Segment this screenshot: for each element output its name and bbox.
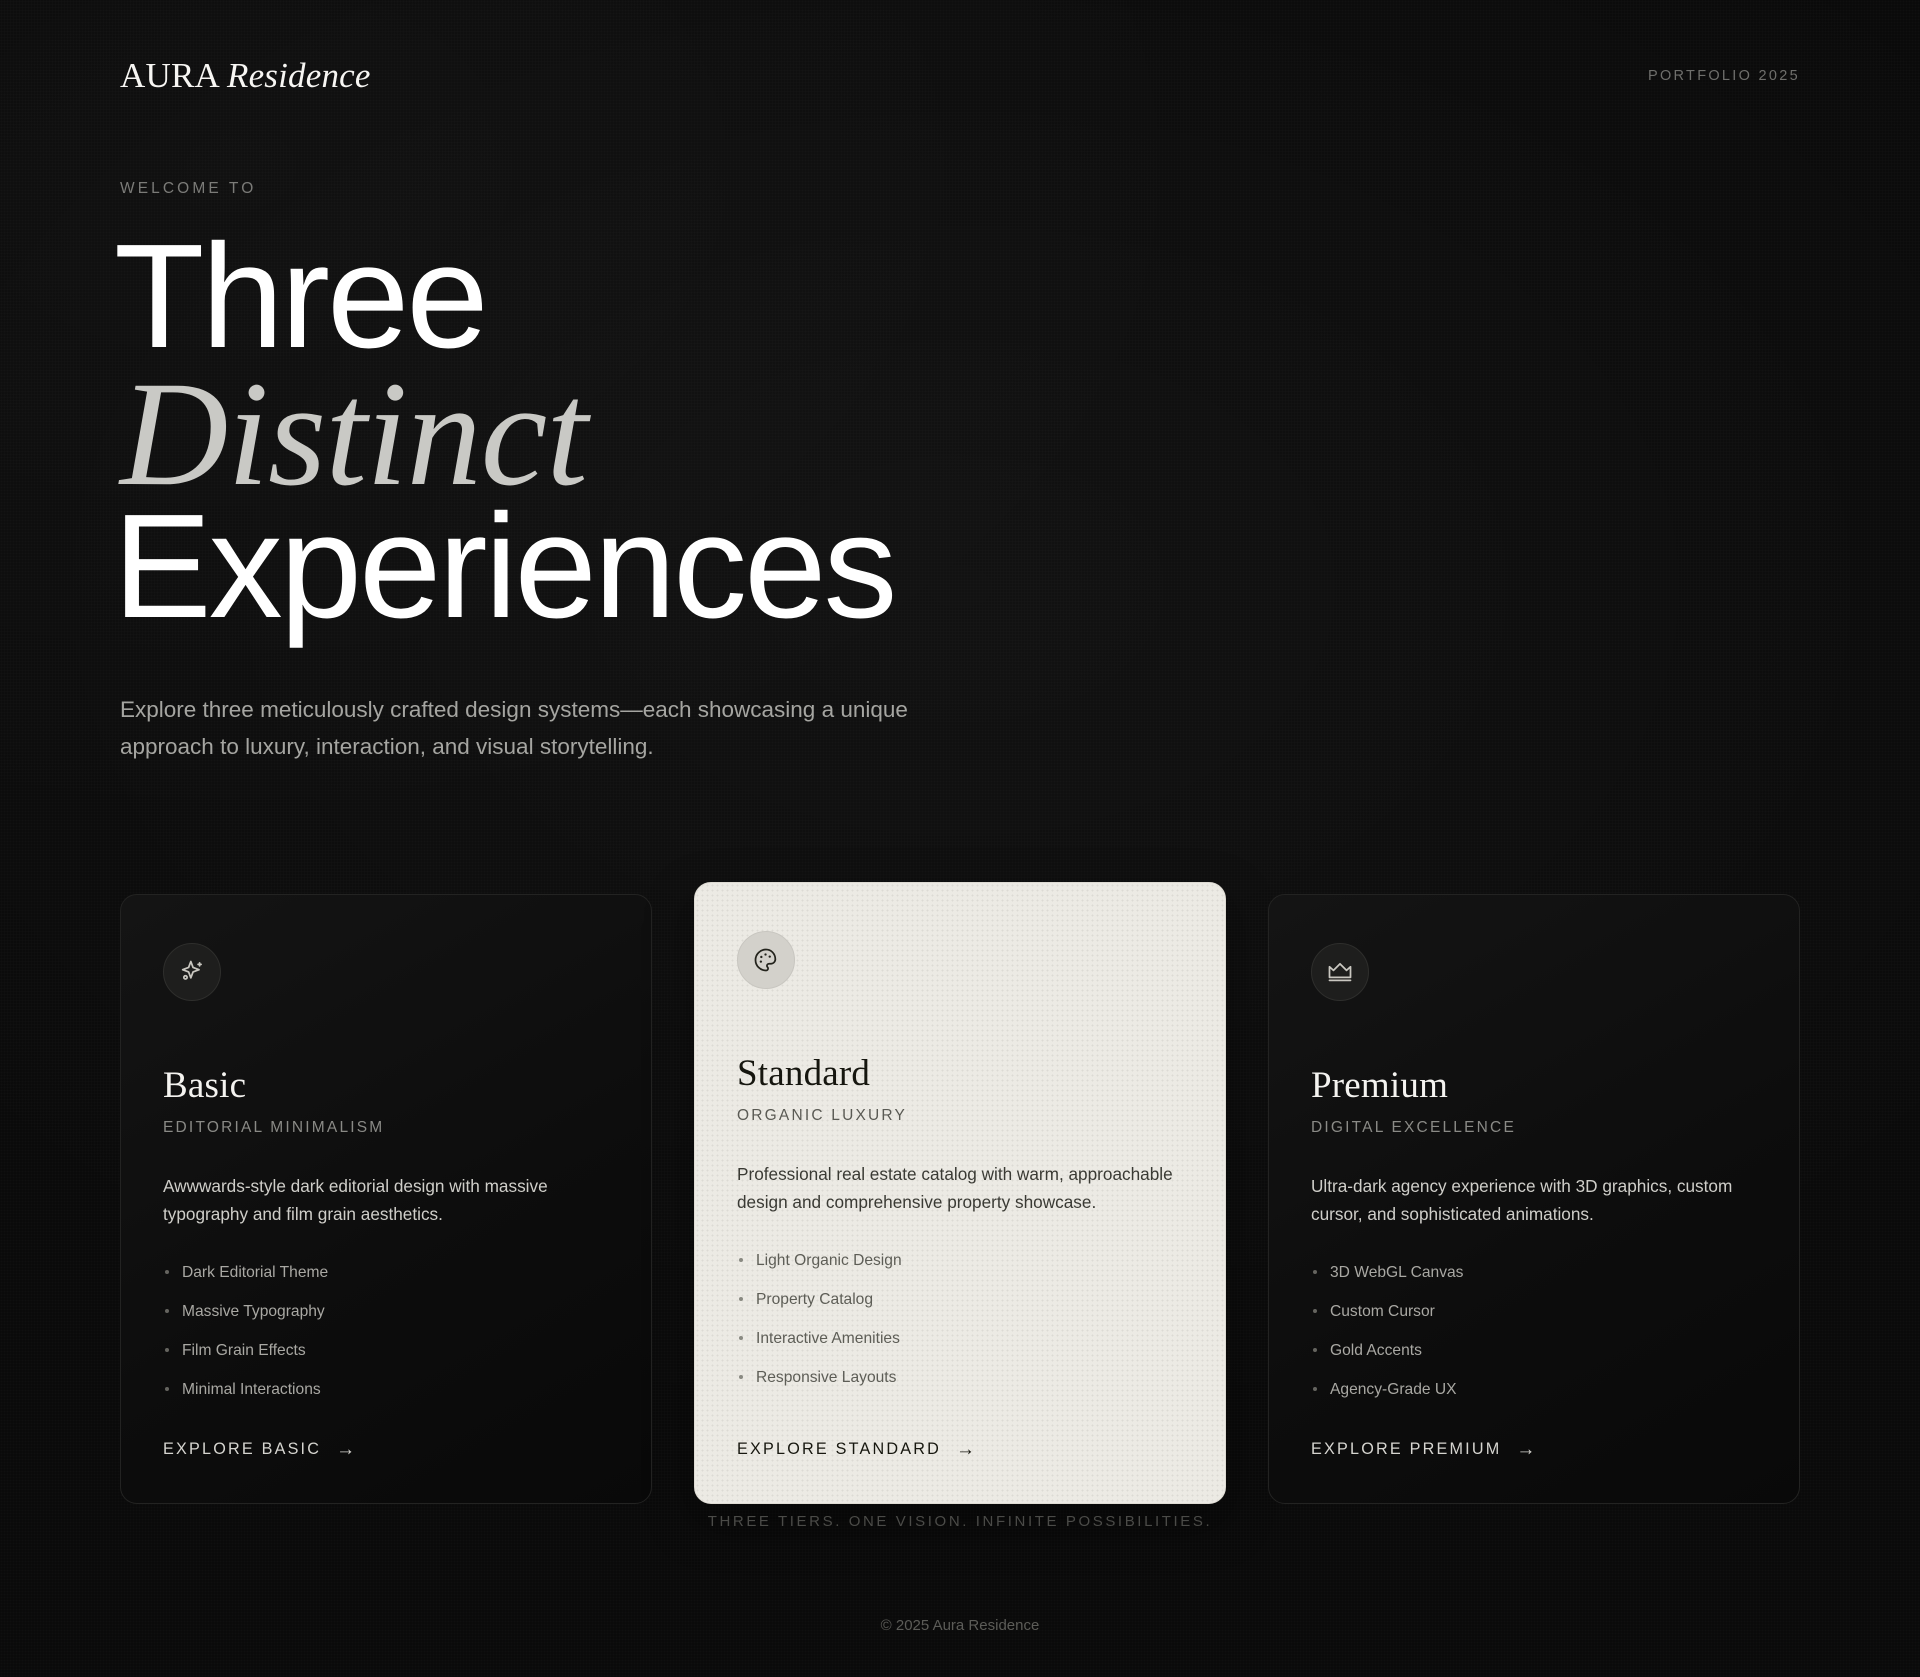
headline-line-3: Experiences	[113, 502, 940, 632]
tier-card-subtitle: ORGANIC LUXURY	[737, 1107, 1183, 1125]
tier-card-description: Ultra-dark agency experience with 3D gra…	[1311, 1173, 1757, 1229]
cta-label: EXPLORE STANDARD	[737, 1440, 941, 1459]
brand-logo-secondary: Residence	[227, 56, 371, 95]
tier-card-description: Professional real estate catalog with wa…	[737, 1161, 1183, 1217]
list-item: Property Catalog	[737, 1291, 1183, 1308]
explore-premium-button[interactable]: EXPLORE PREMIUM →	[1311, 1420, 1757, 1459]
page-title: Three Distinct Experiences	[120, 232, 940, 632]
list-item: Film Grain Effects	[163, 1342, 609, 1359]
list-item: Light Organic Design	[737, 1252, 1183, 1269]
portfolio-label: PORTFOLIO 2025	[1648, 68, 1800, 84]
tier-card-grid: Basic EDITORIAL MINIMALISM Awwwards-styl…	[120, 894, 1800, 1504]
list-item: Interactive Amenities	[737, 1330, 1183, 1347]
tier-card-standard[interactable]: Standard ORGANIC LUXURY Professional rea…	[694, 882, 1226, 1504]
list-item: Custom Cursor	[1311, 1303, 1757, 1320]
tier-card-premium[interactable]: Premium DIGITAL EXCELLENCE Ultra-dark ag…	[1268, 894, 1800, 1504]
footer-tagline: THREE TIERS. ONE VISION. INFINITE POSSIB…	[0, 1513, 1920, 1530]
list-item: Minimal Interactions	[163, 1381, 609, 1398]
tier-card-subtitle: DIGITAL EXCELLENCE	[1311, 1119, 1757, 1137]
arrow-right-icon: →	[1516, 1440, 1537, 1459]
arrow-right-icon: →	[956, 1440, 977, 1459]
list-item: Agency-Grade UX	[1311, 1381, 1757, 1398]
tier-card-title: Basic	[163, 1067, 609, 1104]
tier-card-title: Standard	[737, 1055, 1183, 1092]
list-item: 3D WebGL Canvas	[1311, 1264, 1757, 1281]
tier-card-basic[interactable]: Basic EDITORIAL MINIMALISM Awwwards-styl…	[120, 894, 652, 1504]
list-item: Gold Accents	[1311, 1342, 1757, 1359]
hero-eyebrow: WELCOME TO	[120, 180, 940, 198]
footer-copyright: © 2025 Aura Residence	[0, 1617, 1920, 1634]
list-item: Responsive Layouts	[737, 1369, 1183, 1386]
tier-card-feature-list: Light Organic Design Property Catalog In…	[737, 1252, 1183, 1409]
explore-standard-button[interactable]: EXPLORE STANDARD →	[737, 1420, 1183, 1459]
brand-logo-primary: AURA	[120, 56, 220, 95]
sparkles-icon	[163, 943, 221, 1001]
headline-line-2: Distinct	[120, 368, 940, 500]
palette-icon	[737, 931, 795, 989]
list-item: Massive Typography	[163, 1303, 609, 1320]
tier-card-subtitle: EDITORIAL MINIMALISM	[163, 1119, 609, 1137]
tier-card-description: Awwwards-style dark editorial design wit…	[163, 1173, 609, 1229]
cta-label: EXPLORE PREMIUM	[1311, 1440, 1501, 1459]
tier-card-title: Premium	[1311, 1067, 1757, 1104]
tier-card-feature-list: 3D WebGL Canvas Custom Cursor Gold Accen…	[1311, 1264, 1757, 1421]
hero-subtitle: Explore three meticulously crafted desig…	[120, 692, 940, 765]
landing-page: AURAResidence PORTFOLIO 2025 WELCOME TO …	[0, 0, 1920, 1677]
cta-label: EXPLORE BASIC	[163, 1440, 321, 1459]
explore-basic-button[interactable]: EXPLORE BASIC →	[163, 1420, 609, 1459]
crown-icon	[1311, 943, 1369, 1001]
tier-card-feature-list: Dark Editorial Theme Massive Typography …	[163, 1264, 609, 1421]
site-header: AURAResidence PORTFOLIO 2025	[120, 56, 1800, 96]
headline-line-1: Three	[114, 232, 940, 362]
list-item: Dark Editorial Theme	[163, 1264, 609, 1281]
brand-logo[interactable]: AURAResidence	[120, 56, 371, 96]
hero-section: WELCOME TO Three Distinct Experiences Ex…	[120, 180, 940, 765]
arrow-right-icon: →	[336, 1440, 357, 1459]
